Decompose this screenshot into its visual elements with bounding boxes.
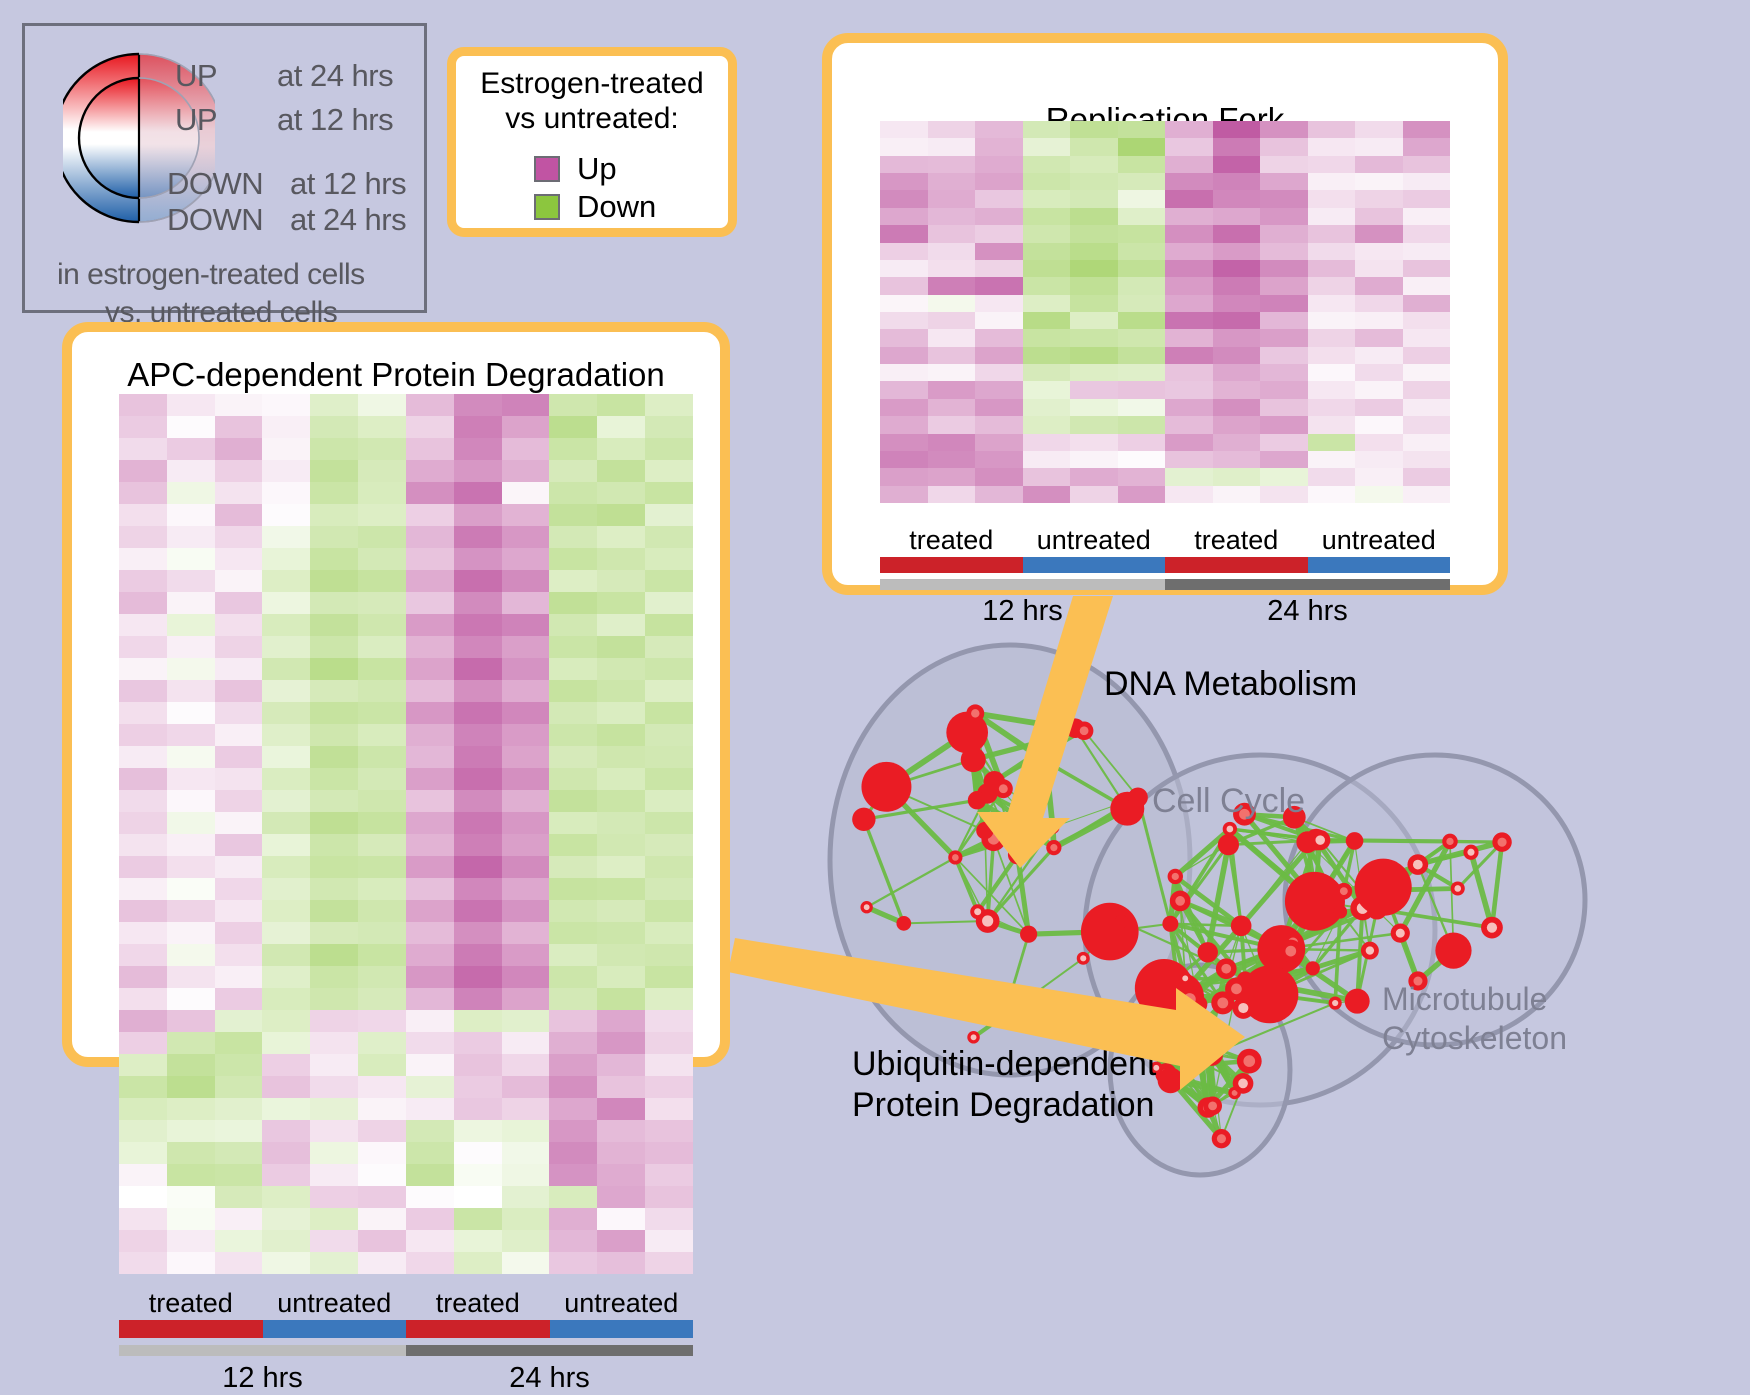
heatmap-cell: [1308, 190, 1356, 207]
heatmap-cell: [1118, 329, 1166, 346]
treatment-color-bar-segment: [880, 557, 1023, 573]
heatmap-cell: [167, 548, 215, 570]
heatmap-cell: [928, 381, 976, 398]
heatmap-cell: [454, 504, 502, 526]
heatmap-cell: [1355, 225, 1403, 242]
heatmap-cell: [119, 548, 167, 570]
heatmap-cell: [880, 486, 928, 503]
heatmap-cell: [215, 570, 263, 592]
network-node[interactable]: [1179, 972, 1191, 984]
heatmap-cell: [502, 1098, 550, 1120]
heatmap-cell: [1118, 243, 1166, 260]
heatmap-cell: [167, 768, 215, 790]
heatmap-cell: [549, 482, 597, 504]
heatmap-cell: [358, 1142, 406, 1164]
network-node[interactable]: [1329, 996, 1342, 1009]
heatmap-cell: [975, 434, 1023, 451]
heatmap-cell: [215, 1186, 263, 1208]
heatmap-cell: [1403, 173, 1451, 190]
heatmap-cell: [1070, 260, 1118, 277]
heatmap-cell: [1118, 451, 1166, 468]
heatmap-cell: [406, 1252, 454, 1274]
heatmap-cell: [310, 878, 358, 900]
heatmap-cell: [119, 878, 167, 900]
heatmap-cell: [502, 1208, 550, 1230]
heatmap-cell: [1308, 312, 1356, 329]
heatmap-cell: [119, 1230, 167, 1252]
heatmap-cell: [358, 856, 406, 878]
heatmap-cell: [358, 900, 406, 922]
network-node[interactable]: [1128, 787, 1148, 807]
heatmap-cell: [502, 1164, 550, 1186]
heatmap-cell: [1023, 364, 1071, 381]
heatmap-cell: [1260, 399, 1308, 416]
heatmap-cell: [406, 1230, 454, 1252]
heatmap-cell: [406, 702, 454, 724]
heatmap-cell: [358, 768, 406, 790]
heatmap-cell: [1165, 347, 1213, 364]
heatmap-cell: [1023, 156, 1071, 173]
heatmap-cell: [358, 548, 406, 570]
heatmap-cell: [406, 636, 454, 658]
network-node[interactable]: [1077, 952, 1090, 965]
heatmap-cell: [549, 1208, 597, 1230]
heatmap-cell: [502, 768, 550, 790]
heatmap-cell: [1070, 381, 1118, 398]
network-node[interactable]: [1233, 1073, 1254, 1094]
heatmap-cell: [1165, 156, 1213, 173]
heatmap-cell: [454, 1032, 502, 1054]
network-node[interactable]: [1158, 1068, 1184, 1094]
heatmap-cell: [1118, 156, 1166, 173]
heatmap-cell: [549, 724, 597, 746]
network-node[interactable]: [967, 1031, 979, 1043]
network-node[interactable]: [852, 808, 875, 831]
network-node[interactable]: [1046, 840, 1061, 855]
network-node[interactable]: [994, 1005, 1015, 1026]
heatmap-cell: [167, 1142, 215, 1164]
network-node[interactable]: [1237, 1049, 1262, 1074]
heatmap-cell: [262, 592, 310, 614]
network-node[interactable]: [948, 850, 962, 864]
network-node[interactable]: [1231, 915, 1252, 936]
network-node[interactable]: [1115, 915, 1128, 928]
heatmap-cell: [1023, 121, 1071, 138]
network-node[interactable]: [861, 762, 911, 812]
network-node[interactable]: [1202, 1026, 1218, 1042]
heatmap-cell: [454, 1098, 502, 1120]
heatmap-cell: [597, 1252, 645, 1274]
network-node[interactable]: [976, 822, 993, 839]
heatmap-cell: [454, 812, 502, 834]
heatmap-cell: [1260, 381, 1308, 398]
heatmap-cell: [928, 208, 976, 225]
heatmap-cell: [215, 482, 263, 504]
network-edge: [1320, 840, 1450, 841]
network-label-ubiquitin-degradation: Ubiquitin-dependent Protein Degradation: [852, 1044, 1156, 1127]
heatmap-cell: [975, 416, 1023, 433]
heatmap-cell: [215, 1076, 263, 1098]
network-node[interactable]: [1306, 961, 1320, 975]
legend-down-24-label: DOWN: [167, 202, 263, 238]
heatmap-cell: [502, 636, 550, 658]
heatmap-cell: [549, 966, 597, 988]
network-node[interactable]: [896, 916, 911, 931]
heatmap-cell: [1355, 347, 1403, 364]
heatmap-cell: [454, 1142, 502, 1164]
heatmap-cell: [645, 592, 693, 614]
apc-column-group-labels: treateduntreatedtreateduntreated: [119, 1288, 693, 1319]
heatmap-cell: [1260, 243, 1308, 260]
time-color-bar-segment: [119, 1345, 406, 1356]
heatmap-cell: [1070, 312, 1118, 329]
legend-footer-line1: in estrogen-treated cells: [57, 258, 365, 292]
network-node[interactable]: [1046, 820, 1060, 834]
heatmap-cell: [406, 812, 454, 834]
network-node[interactable]: [1225, 978, 1248, 1001]
network-node[interactable]: [1279, 940, 1302, 963]
network-node[interactable]: [1008, 845, 1027, 864]
network-node[interactable]: [1212, 1129, 1231, 1148]
heatmap-cell: [262, 548, 310, 570]
heatmap-cell: [1308, 486, 1356, 503]
heatmap-cell: [1403, 225, 1451, 242]
network-node[interactable]: [1218, 834, 1239, 855]
heatmap-cell: [262, 878, 310, 900]
heatmap-cell: [549, 614, 597, 636]
heatmap-cell: [1165, 277, 1213, 294]
heatmap-cell: [880, 208, 928, 225]
network-node[interactable]: [1345, 989, 1370, 1014]
heatmap-cell: [1070, 138, 1118, 155]
heatmap-cell: [310, 1142, 358, 1164]
heatmap-cell: [1308, 156, 1356, 173]
heatmap-cell: [454, 636, 502, 658]
heatmap-cell: [358, 1208, 406, 1230]
heatmap-cell: [310, 1230, 358, 1252]
heatmap-cell: [1403, 190, 1451, 207]
replication-fork-heatmap: [880, 121, 1450, 503]
heatmap-cell: [119, 1032, 167, 1054]
heatmap-cell: [502, 900, 550, 922]
heatmap-cell: [1260, 260, 1308, 277]
heatmap-cell: [645, 856, 693, 878]
treatment-color-bar-segment: [550, 1320, 694, 1338]
heatmap-cell: [1165, 225, 1213, 242]
heatmap-cell: [880, 173, 928, 190]
heatmap-cell: [645, 416, 693, 438]
network-node[interactable]: [1336, 883, 1353, 900]
network-node[interactable]: [1442, 834, 1458, 850]
heatmap-cell: [310, 526, 358, 548]
heatmap-cell: [645, 636, 693, 658]
heatmap-cell: [1260, 208, 1308, 225]
heatmap-cell: [1355, 468, 1403, 485]
heatmap-cell: [1023, 277, 1071, 294]
heatmap-cell: [645, 1120, 693, 1142]
heatmap-cell: [1165, 451, 1213, 468]
network-node[interactable]: [1407, 854, 1428, 875]
network-node[interactable]: [961, 747, 986, 772]
heatmap-cell: [215, 834, 263, 856]
heatmap-cell: [645, 1142, 693, 1164]
heatmap-cell: [597, 1054, 645, 1076]
heatmap-cell: [262, 680, 310, 702]
heatmap-cell: [549, 438, 597, 460]
heatmap-cell: [406, 724, 454, 746]
heatmap-cell: [597, 570, 645, 592]
heatmap-cell: [358, 1054, 406, 1076]
heatmap-cell: [880, 468, 928, 485]
network-node[interactable]: [1451, 881, 1465, 895]
replication-fork-treatment-bar: [880, 557, 1450, 573]
heatmap-cell: [645, 504, 693, 526]
heatmap-cell: [880, 312, 928, 329]
heatmap-cell: [549, 878, 597, 900]
heatmap-cell: [310, 1120, 358, 1142]
heatmap-cell: [358, 416, 406, 438]
network-node[interactable]: [968, 791, 986, 809]
heatmap-cell: [215, 1252, 263, 1274]
heatmap-cell: [119, 1098, 167, 1120]
heatmap-cell: [502, 1076, 550, 1098]
legend-up-12-label: UP: [175, 102, 217, 138]
heatmap-cell: [597, 1208, 645, 1230]
network-node[interactable]: [1223, 822, 1237, 836]
network-node[interactable]: [1492, 832, 1511, 851]
heatmap-cell: [119, 680, 167, 702]
heatmap-cell: [975, 173, 1023, 190]
heatmap-cell: [406, 1120, 454, 1142]
heatmap-cell: [310, 1098, 358, 1120]
heatmap-cell: [1403, 121, 1451, 138]
network-node[interactable]: [1435, 932, 1471, 968]
network-node[interactable]: [1081, 903, 1139, 961]
heatmap-cell: [1355, 416, 1403, 433]
heatmap-cell: [262, 1098, 310, 1120]
network-node[interactable]: [860, 901, 872, 913]
legend-down-12-time: at 12 hrs: [290, 166, 406, 202]
heatmap-cell: [310, 1186, 358, 1208]
heatmap-cell: [645, 570, 693, 592]
heatmap-cell: [1260, 156, 1308, 173]
heatmap-cell: [167, 746, 215, 768]
legend-up-24-time: at 24 hrs: [277, 58, 393, 94]
heatmap-cell: [454, 460, 502, 482]
heatmap-cell: [1023, 399, 1071, 416]
heatmap-cell: [1118, 399, 1166, 416]
column-group-label: untreated: [1023, 525, 1166, 556]
heatmap-cell: [358, 1120, 406, 1142]
heatmap-cell: [1213, 208, 1261, 225]
heatmap-cell: [502, 944, 550, 966]
heatmap-cell: [1165, 173, 1213, 190]
heatmap-cell: [502, 922, 550, 944]
heatmap-cell: [119, 1142, 167, 1164]
heatmap-cell: [167, 724, 215, 746]
heatmap-cell: [645, 482, 693, 504]
heatmap-cell: [597, 790, 645, 812]
heatmap-cell: [597, 1230, 645, 1252]
heatmap-cell: [1213, 451, 1261, 468]
heatmap-cell: [502, 548, 550, 570]
network-node[interactable]: [1020, 926, 1037, 943]
heatmap-cell: [119, 1054, 167, 1076]
heatmap-cell: [310, 702, 358, 724]
network-node[interactable]: [1233, 997, 1255, 1019]
heatmap-cell: [215, 966, 263, 988]
heatmap-cell: [167, 614, 215, 636]
heatmap-cell: [1165, 364, 1213, 381]
microtubule-line2: Cytoskeleton: [1382, 1019, 1567, 1058]
heatmap-cell: [1070, 190, 1118, 207]
heatmap-cell: [928, 364, 976, 381]
heatmap-cell: [454, 614, 502, 636]
heatmap-cell: [1023, 329, 1071, 346]
heatmap-cell: [262, 394, 310, 416]
heatmap-cell: [167, 1186, 215, 1208]
heatmap-cell: [215, 922, 263, 944]
heatmap-cell: [1070, 451, 1118, 468]
network-node[interactable]: [966, 704, 984, 722]
network-node[interactable]: [1310, 830, 1330, 850]
heatmap-cell: [119, 834, 167, 856]
heatmap-cell: [1023, 381, 1071, 398]
heatmap-cell: [645, 680, 693, 702]
heatmap-cell: [406, 592, 454, 614]
network-node[interactable]: [1198, 942, 1218, 962]
heatmap-cell: [928, 243, 976, 260]
heatmap-cell: [1118, 225, 1166, 242]
heatmap-cell: [119, 394, 167, 416]
network-node[interactable]: [1481, 917, 1503, 939]
heatmap-cell: [1070, 399, 1118, 416]
heatmap-cell: [1023, 347, 1071, 364]
network-node[interactable]: [1170, 891, 1191, 912]
heatmap-cell: [454, 1076, 502, 1098]
heatmap-cell: [262, 922, 310, 944]
heatmap-cell: [880, 190, 928, 207]
heatmap-cell: [645, 1252, 693, 1274]
heatmap-cell: [406, 614, 454, 636]
heatmap-cell: [880, 329, 928, 346]
heatmap-cell: [1213, 399, 1261, 416]
heatmap-cell: [406, 922, 454, 944]
legend-down-24-time: at 24 hrs: [290, 202, 406, 238]
heatmap-cell: [262, 724, 310, 746]
heatmap-cell: [928, 347, 976, 364]
heatmap-cell: [358, 1230, 406, 1252]
heatmap-cell: [597, 900, 645, 922]
heatmap-cell: [1355, 434, 1403, 451]
network-node[interactable]: [970, 904, 985, 919]
network-node[interactable]: [1200, 1043, 1223, 1066]
heatmap-cell: [262, 1230, 310, 1252]
network-node[interactable]: [1037, 752, 1055, 770]
heatmap-cell: [358, 812, 406, 834]
network-node[interactable]: [1333, 905, 1347, 919]
heatmap-cell: [406, 878, 454, 900]
heatmap-cell: [167, 416, 215, 438]
network-node[interactable]: [1162, 916, 1178, 932]
heatmap-cell: [454, 1164, 502, 1186]
network-node[interactable]: [1075, 721, 1094, 740]
heatmap-cell: [502, 1186, 550, 1208]
heatmap-cell: [358, 570, 406, 592]
heatmap-cell: [1165, 121, 1213, 138]
heatmap-cell: [1213, 347, 1261, 364]
heatmap-cell: [880, 416, 928, 433]
heatmap-cell: [549, 658, 597, 680]
heatmap-cell: [310, 1208, 358, 1230]
heatmap-cell: [167, 1120, 215, 1142]
network-label-microtubule-cytoskeleton: Microtubule Cytoskeleton: [1382, 980, 1567, 1058]
heatmap-cell: [1260, 486, 1308, 503]
heatmap-cell: [310, 724, 358, 746]
heatmap-cell: [502, 680, 550, 702]
network-node[interactable]: [1391, 924, 1410, 943]
column-group-label: untreated: [263, 1288, 407, 1319]
legend-up-12-time: at 12 hrs: [277, 102, 393, 138]
heatmap-cell: [549, 636, 597, 658]
heatmap-cell: [1213, 381, 1261, 398]
network-label-dna-metabolism: DNA Metabolism: [1104, 665, 1357, 704]
network-node[interactable]: [1203, 1096, 1222, 1115]
heatmap-cell: [262, 416, 310, 438]
heatmap-cell: [1403, 381, 1451, 398]
time-group-label: 24 hrs: [406, 1362, 693, 1395]
heatmap-cell: [215, 680, 263, 702]
network-node[interactable]: [1463, 845, 1478, 860]
heatmap-cell: [1403, 486, 1451, 503]
heatmap-cell: [880, 225, 928, 242]
heatmap-cell: [215, 1054, 263, 1076]
heatmap-cell: [119, 1120, 167, 1142]
network-node[interactable]: [1177, 986, 1203, 1012]
heatmap-cell: [406, 746, 454, 768]
heatmap-cell: [645, 1098, 693, 1120]
heatmap-cell: [1308, 451, 1356, 468]
network-node[interactable]: [1355, 859, 1412, 916]
heatmap-cell: [215, 878, 263, 900]
heatmap-cell: [597, 504, 645, 526]
heatmap-cell: [119, 768, 167, 790]
network-node[interactable]: [1216, 958, 1237, 979]
heatmap-cell: [1308, 434, 1356, 451]
heatmap-cell: [549, 1230, 597, 1252]
heatmap-cell: [310, 944, 358, 966]
network-node[interactable]: [1285, 872, 1344, 931]
treatment-color-bar-segment: [1165, 557, 1308, 573]
heatmap-cell: [310, 834, 358, 856]
heatmap-cell: [358, 834, 406, 856]
network-node[interactable]: [1168, 869, 1183, 884]
heatmap-cell: [215, 790, 263, 812]
heatmap-cell: [358, 394, 406, 416]
heatmap-cell: [1308, 416, 1356, 433]
heatmap-cell: [1118, 381, 1166, 398]
heatmap-cell: [1403, 156, 1451, 173]
heatmap-cell: [645, 702, 693, 724]
heatmap-cell: [975, 243, 1023, 260]
network-node[interactable]: [1361, 942, 1379, 960]
heatmap-cell: [1165, 381, 1213, 398]
network-node[interactable]: [1346, 832, 1364, 850]
heatmap-cell: [358, 614, 406, 636]
heatmap-cell: [1213, 225, 1261, 242]
column-group-label: untreated: [550, 1288, 694, 1319]
updown-title-line2: vs untreated:: [456, 101, 728, 136]
